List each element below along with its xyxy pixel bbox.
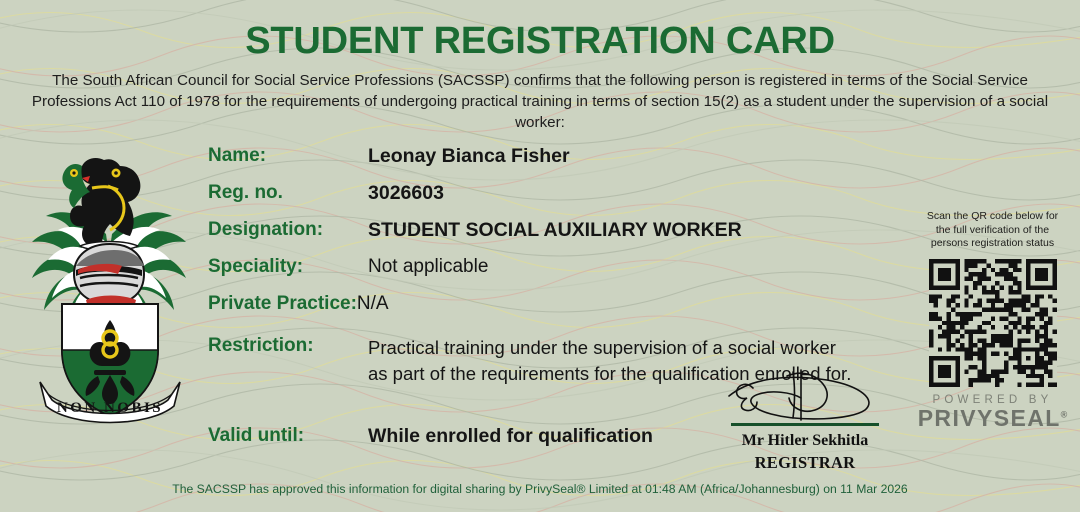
field-label-speciality: Speciality:: [208, 256, 368, 278]
registered-mark: ®: [1061, 409, 1068, 419]
registrar-name: Mr Hitler Sekhitla: [690, 432, 920, 450]
field-value-designation: STUDENT SOCIAL AUXILIARY WORKER: [368, 219, 742, 242]
student-registration-card: STUDENT REGISTRATION CARD The South Afri…: [0, 0, 1080, 512]
field-value-private-practice: N/A: [357, 293, 389, 315]
field-label-name: Name:: [208, 145, 368, 167]
qr-caption-line-1: Scan the QR code below for: [927, 210, 1058, 222]
verification-block: Scan the QR code below for the full veri…: [905, 210, 1080, 432]
qr-code-icon[interactable]: [905, 259, 1080, 387]
qr-caption-line-2: the full verification of the: [936, 224, 1049, 236]
signature-block: Mr Hitler Sekhitla REGISTRAR: [690, 368, 920, 473]
field-value-speciality: Not applicable: [368, 256, 488, 278]
field-value-valid-until: While enrolled for qualification: [368, 425, 653, 448]
field-label-reg-no: Reg. no.: [208, 182, 368, 204]
brand-name: PRIVYSEAL: [918, 405, 1061, 431]
qr-caption: Scan the QR code below for the full veri…: [913, 210, 1073, 251]
privyseal-brand: PRIVYSEAL®: [905, 405, 1080, 432]
emblem-motto: NON NOBIS: [57, 400, 163, 416]
field-row-designation: Designation:STUDENT SOCIAL AUXILIARY WOR…: [208, 219, 908, 249]
field-label-valid-until: Valid until:: [208, 425, 368, 447]
qr-caption-line-3: persons registration status: [931, 237, 1054, 249]
field-row-private-practice: Private Practice:N/A: [208, 293, 908, 323]
page-title: STUDENT REGISTRATION CARD: [0, 20, 1080, 63]
footer-approval-text: The SACSSP has approved this information…: [0, 482, 1080, 496]
restriction-line-1: Practical training under the supervision…: [368, 337, 836, 358]
field-row-name: Name:Leonay Bianca Fisher: [208, 145, 908, 175]
field-value-name: Leonay Bianca Fisher: [368, 145, 570, 168]
intro-paragraph: The South African Council for Social Ser…: [30, 70, 1050, 133]
field-row-reg-no: Reg. no.3026603: [208, 182, 908, 212]
sacssp-coat-of-arms-icon: NON NOBIS: [18, 142, 200, 427]
field-value-reg-no: 3026603: [368, 182, 444, 205]
field-label-restriction: Restriction:: [208, 335, 368, 357]
field-label-designation: Designation:: [208, 219, 368, 241]
field-row-speciality: Speciality:Not applicable: [208, 256, 908, 286]
field-label-private-practice: Private Practice:: [208, 293, 357, 315]
handwritten-signature-icon: [690, 368, 920, 423]
registrar-role: REGISTRAR: [690, 453, 920, 473]
